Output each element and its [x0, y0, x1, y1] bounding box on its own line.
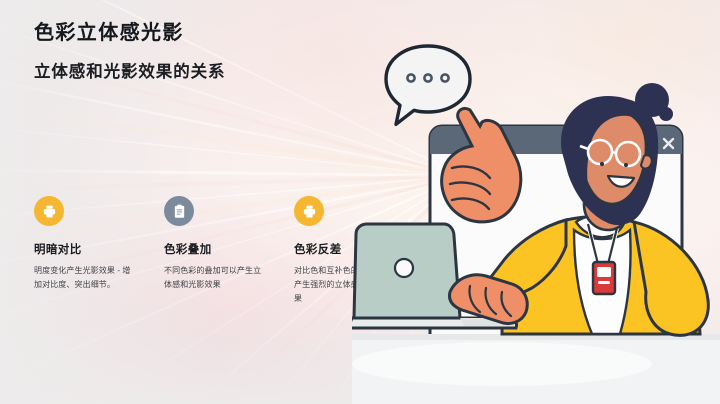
feature-body: 明度变化产生光影效果 - 增加对比度、突出细节。: [34, 264, 138, 292]
clipboard-icon: [164, 196, 194, 226]
woman-at-laptop-illustration: [352, 34, 720, 404]
feature-item-2: 色彩叠加 不同色彩的叠加可以产生立体感和光影效果: [164, 196, 294, 306]
id-badge: [593, 262, 615, 294]
feature-title: 明暗对比: [34, 241, 164, 257]
page-title: 色彩立体感光影: [34, 22, 225, 44]
printer-icon: [294, 196, 324, 226]
slide-canvas: 色彩立体感光影 立体感和光影效果的关系 明暗对比 明度变化产生光影效果 - 增加…: [0, 0, 720, 404]
page-subtitle: 立体感和光影效果的关系: [34, 63, 225, 82]
feature-body: 不同色彩的叠加可以产生立体感和光影效果: [164, 264, 268, 292]
printer-icon: [34, 196, 64, 226]
feature-item-1: 明暗对比 明度变化产生光影效果 - 增加对比度、突出细节。: [34, 196, 164, 306]
feature-title: 色彩叠加: [164, 241, 294, 257]
heading-block: 色彩立体感光影 立体感和光影效果的关系: [34, 22, 225, 82]
desk-surface: [352, 334, 720, 404]
